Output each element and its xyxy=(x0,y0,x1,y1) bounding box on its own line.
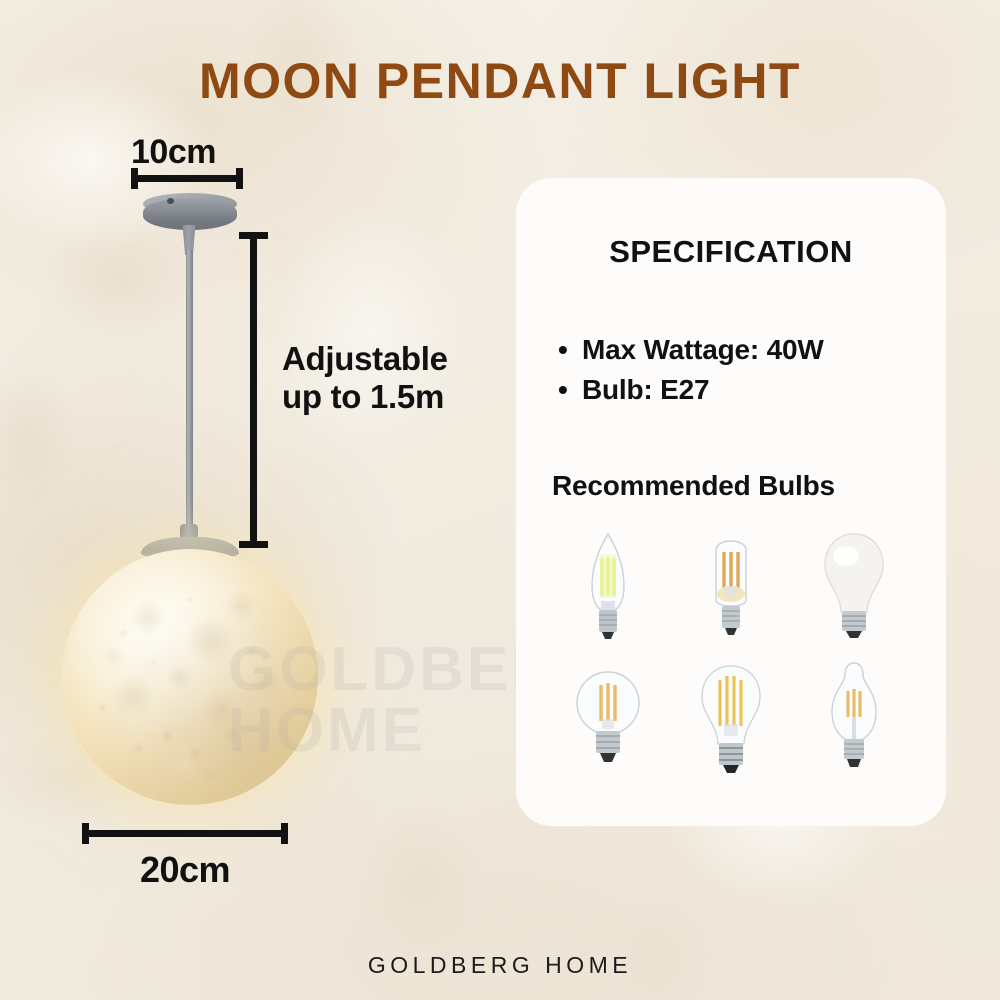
specification-card: SPECIFICATION • Max Wattage: 40W • Bulb:… xyxy=(516,178,946,826)
product-infographic: MOON PENDANT LIGHT GOLDBERG HOME 10cm Ad… xyxy=(0,0,1000,1000)
list-item: • Bulb: E27 xyxy=(558,370,928,410)
edison-st64-bulb xyxy=(798,654,910,786)
specification-title: SPECIFICATION xyxy=(516,234,946,270)
specification-list: • Max Wattage: 40W • Bulb: E27 xyxy=(558,330,928,410)
candle-bulb xyxy=(552,520,664,652)
frosted-a60-bulb xyxy=(798,520,910,652)
bullet-icon: • xyxy=(558,370,582,410)
recommended-bulbs-title: Recommended Bulbs xyxy=(552,470,835,502)
tubular-bulb xyxy=(675,520,787,652)
recommended-bulbs-grid xyxy=(546,518,916,786)
spec-label: Max Wattage: 40W xyxy=(582,330,824,370)
dimension-line-diameter xyxy=(82,830,288,837)
dimension-line-width xyxy=(131,175,243,182)
canopy-screw-icon xyxy=(167,198,174,204)
brand-footer: GOLDBERG HOME xyxy=(0,952,1000,979)
clear-a60-bulb xyxy=(675,654,787,786)
list-item: • Max Wattage: 40W xyxy=(558,330,928,370)
moon-shading xyxy=(62,549,318,805)
suspension-cable xyxy=(186,250,193,545)
moon-globe-shade xyxy=(62,549,318,805)
globe-bulb xyxy=(552,654,664,786)
dimension-label-width: 10cm xyxy=(131,133,216,172)
dimension-line-drop xyxy=(250,232,257,548)
spec-label: Bulb: E27 xyxy=(582,370,709,410)
dimension-label-diameter: 20cm xyxy=(82,849,288,891)
dimension-label-drop: Adjustable up to 1.5m xyxy=(282,340,448,417)
bullet-icon: • xyxy=(558,330,582,370)
